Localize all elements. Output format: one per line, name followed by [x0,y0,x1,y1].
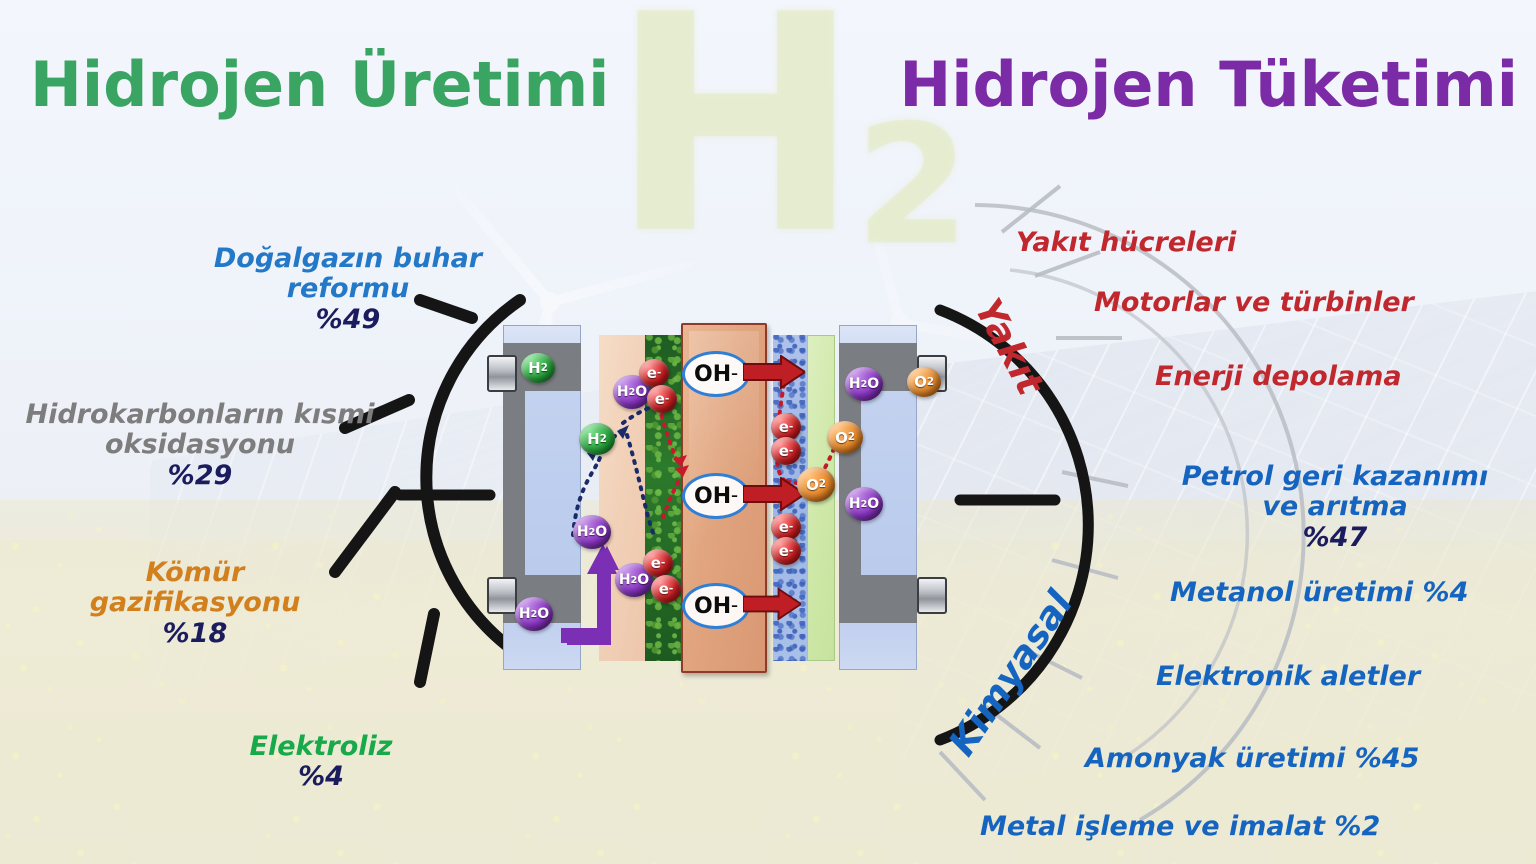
electron: e- [651,575,681,603]
production-label-text: Doğalgazın buhar reformu [214,243,482,304]
consumption-label-ammonia-production: Amonyak üretimi %45 [1085,714,1505,774]
production-label-coal-gasification: Kömür gazifikasyonu %18 [60,528,330,679]
consumption-label-text: Enerji depolama [1155,361,1402,392]
fuel-cell-diagram: OH– OH– OH– H2 H2 H2O H2O H2O H2O e- e- … [487,325,957,670]
consumption-label-engines-turbines: Motorlar ve türbinler [1094,258,1494,318]
consumption-label-text: Metal işleme ve imalat %2 [980,811,1380,842]
electron: e- [771,537,801,565]
production-label-text: Elektroliz [250,731,393,762]
production-percent: %49 [188,305,508,335]
consumption-label-text: Amonyak üretimi %45 [1085,743,1419,774]
infographic-canvas: H2 Hidrojen Üretimi Hidrojen Tüketimi [0,0,1536,864]
electron: e- [643,549,673,577]
page-title-consumption: Hidrojen Tüketimi [899,48,1518,121]
water-molecule: H2O [515,597,553,631]
hydroxide-ion: OH– [682,351,750,397]
page-title-production: Hidrojen Üretimi [30,48,609,121]
water-recirculation-arrow [561,540,619,645]
oxygen-molecule: O2 [907,367,941,397]
water-molecule: H2O [845,367,883,401]
electron: e- [771,437,801,465]
production-label-steam-reforming: Doğalgazın buhar reformu %49 [188,214,508,365]
oxygen-molecule: O2 [827,421,863,454]
consumption-label-text: Elektronik aletler [1156,661,1420,692]
water-molecule: H2O [573,515,611,549]
water-molecule: H2O [845,487,883,521]
consumption-label-text: Motorlar ve türbinler [1094,287,1414,318]
consumption-label-energy-storage: Enerji depolama [1155,332,1535,392]
consumption-label-text: Yakıt hücreleri [1016,227,1236,258]
hydrogen-molecule: H2 [521,353,555,383]
consumption-label-fuel-cells: Yakıt hücreleri [1016,198,1336,258]
production-percent: %29 [0,461,400,491]
oxygen-molecule: O2 [797,467,835,502]
production-percent: %4 [216,762,426,792]
consumption-label-metal-processing: Metal işleme ve imalat %2 [980,782,1500,842]
production-label-partial-oxidation: Hidrokarbonların kısmi oksidasyonu %29 [0,370,400,521]
h2-watermark: H2 [610,0,964,276]
hydrogen-molecule: H2 [579,423,615,455]
ion-flow-arrow [743,587,801,621]
electron: e- [639,359,669,387]
consumption-label-text: Metanol üretimi %4 [1170,577,1468,608]
hydroxide-ion: OH– [682,473,750,519]
electron: e- [647,385,677,413]
consumption-label-methanol-production: Metanol üretimi %4 [1170,548,1536,608]
hydroxide-ion: OH– [682,583,750,629]
h2-watermark-letter: H [610,0,855,300]
production-label-electrolysis: Elektroliz %4 [216,702,426,823]
production-label-text: Hidrokarbonların kısmi oksidasyonu [26,399,375,460]
ion-flow-arrow [743,477,805,511]
ion-flow-arrow [743,355,805,389]
consumption-label-electronics: Elektronik aletler [1156,632,1516,692]
production-label-text: Kömür gazifikasyonu [90,557,301,618]
consumption-label-text: Petrol geri kazanımı ve arıtma [1182,461,1488,522]
production-percent: %18 [60,619,330,649]
